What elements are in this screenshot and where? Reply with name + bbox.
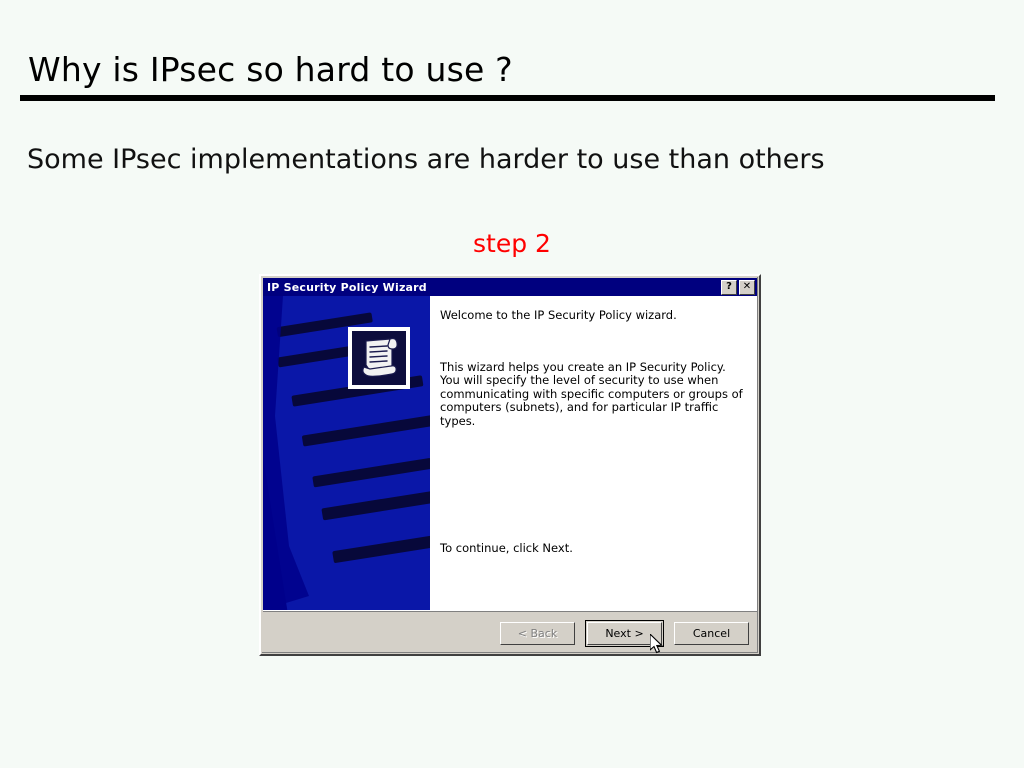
slide-subtitle: Some IPsec implementations are harder to… — [27, 144, 825, 175]
close-icon[interactable]: ✕ — [739, 280, 755, 295]
button-bar-separator — [263, 611, 757, 612]
back-button[interactable]: < Back — [500, 622, 575, 645]
continue-hint-text: To continue, click Next. — [440, 542, 573, 556]
scroll-document-icon — [348, 327, 410, 389]
step-label: step 2 — [0, 229, 1024, 258]
cancel-button[interactable]: Cancel — [674, 622, 749, 645]
next-button-default-frame: Next > — [585, 620, 664, 647]
help-icon[interactable]: ? — [721, 280, 737, 295]
cancel-button-wrap: Cancel — [674, 622, 749, 645]
next-button[interactable]: Next > — [587, 622, 662, 645]
title-divider — [20, 95, 995, 101]
page-title: Why is IPsec so hard to use ? — [28, 50, 513, 89]
welcome-text: Welcome to the IP Security Policy wizard… — [440, 309, 743, 323]
ip-security-policy-wizard-dialog: IP Security Policy Wizard ? ✕ — [259, 274, 761, 656]
description-text: This wizard helps you create an IP Secur… — [440, 361, 743, 429]
dialog-button-bar: < Back Next > Cancel — [263, 610, 757, 652]
back-button-wrap: < Back — [500, 622, 575, 645]
wizard-text-pane: Welcome to the IP Security Policy wizard… — [430, 296, 757, 610]
dialog-body: Welcome to the IP Security Policy wizard… — [263, 296, 757, 610]
wizard-banner — [263, 296, 430, 610]
dialog-titlebar[interactable]: IP Security Policy Wizard ? ✕ — [263, 278, 757, 296]
dialog-title-text: IP Security Policy Wizard — [267, 281, 719, 294]
